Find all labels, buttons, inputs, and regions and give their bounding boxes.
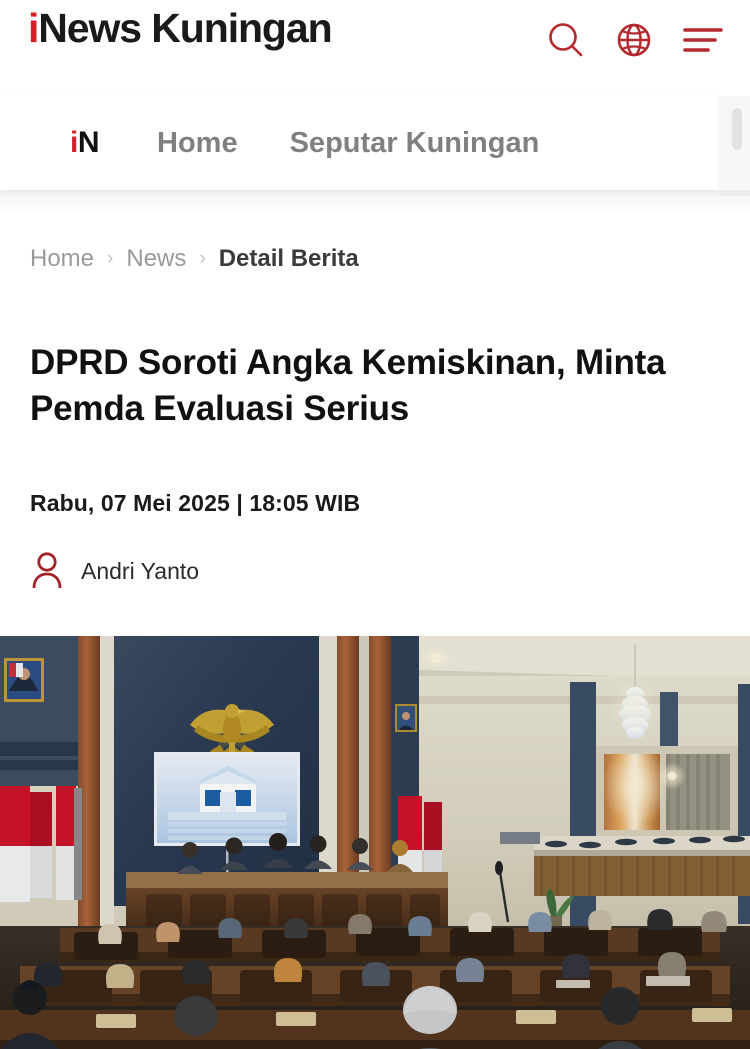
article-byline: Andri Yanto [30,550,199,593]
site-masthead: iNews Kuningan [0,0,750,96]
breadcrumb: Home › News › Detail Berita [30,245,359,273]
article-timestamp: Rabu, 07 Mei 2025 | 18:05 WIB [30,490,360,517]
site-logo-i: i [28,5,38,51]
breadcrumb-item-news[interactable]: News [126,245,186,273]
breadcrumb-item-home[interactable]: Home [30,245,94,273]
primary-navigation: iN Home Seputar Kuningan [0,96,718,190]
nav-logo-i: i [70,126,78,159]
article-hero-image [0,636,750,1049]
site-logo[interactable]: iNews Kuningan [28,8,332,49]
nav-item-home[interactable]: Home [157,127,238,160]
search-icon[interactable] [546,20,586,60]
chevron-right-icon: › [199,248,205,270]
chevron-right-icon: › [107,248,113,270]
nav-logo-n: N [78,126,99,159]
article-author: Andri Yanto [81,558,199,585]
article-page: iNews Kuningan [0,0,750,1049]
hamburger-menu-icon[interactable] [682,23,724,57]
globe-icon[interactable] [614,20,654,60]
nav-logo[interactable]: iN [70,128,99,158]
site-logo-text: News Kuningan [38,5,331,51]
user-icon [30,550,64,593]
nav-item-seputar-kuningan[interactable]: Seputar Kuningan [290,127,540,160]
nav-shadow [0,190,750,216]
breadcrumb-item-detail-berita: Detail Berita [219,245,359,273]
masthead-actions [546,20,724,60]
article-headline: DPRD Soroti Angka Kemiskinan, Minta Pemd… [30,340,690,432]
nav-scrollbar-thumb[interactable] [732,108,742,150]
